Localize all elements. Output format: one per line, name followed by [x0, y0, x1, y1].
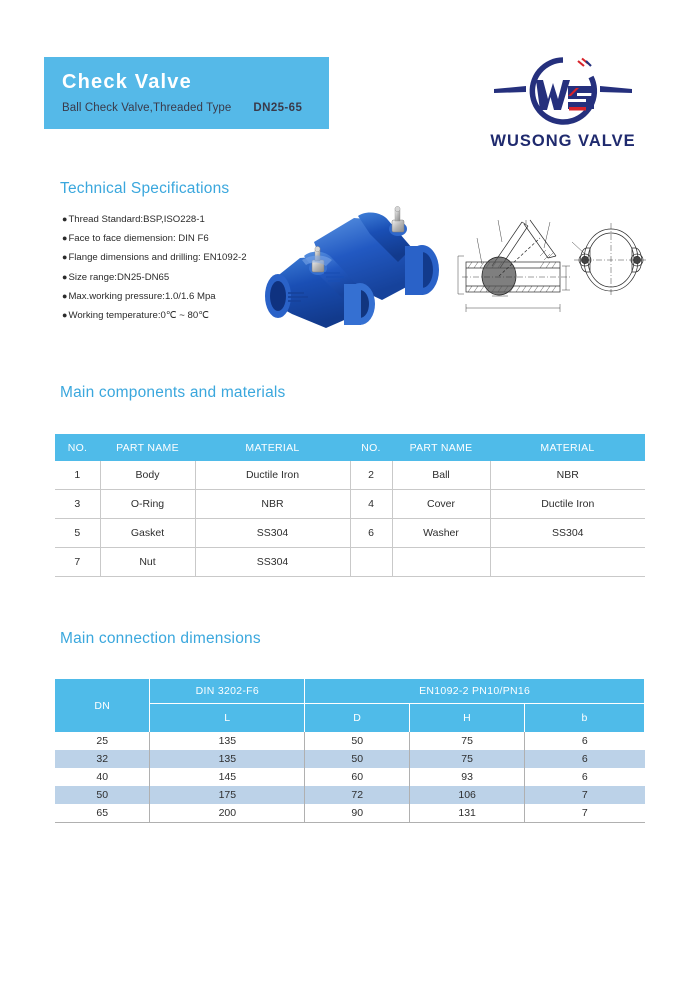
- table-row: 1BodyDuctile Iron2BallNBR: [55, 461, 645, 490]
- table-cell: 50: [305, 732, 410, 750]
- table-cell: Ductile Iron: [195, 461, 350, 490]
- bullet-icon: ●: [62, 272, 67, 282]
- table-cell: Cover: [392, 490, 490, 519]
- table-cell: Gasket: [100, 519, 195, 548]
- bullet-icon: ●: [62, 214, 67, 224]
- spec-item-label: Flange dimensions and drilling: EN1092-2: [68, 252, 246, 263]
- col-header-partname-left: PART NAME: [100, 434, 195, 461]
- table-cell: 131: [410, 804, 525, 823]
- section-heading-technical: Technical Specifications: [60, 180, 229, 198]
- table-cell: 7: [525, 804, 645, 823]
- col-header-partname-right: PART NAME: [392, 434, 490, 461]
- company-name: WUSONG VALVE: [468, 132, 658, 151]
- connection-dimensions-table: DN DIN 3202-F6 EN1092-2 PN10/PN16 L D H …: [55, 679, 645, 823]
- spec-item-label: Max.working pressure:1.0/1.6 Mpa: [68, 291, 215, 302]
- table-cell: 200: [150, 804, 305, 823]
- product-photo-check-valve: [262, 196, 457, 336]
- col-header-material-left: MATERIAL: [195, 434, 350, 461]
- table-cell: 75: [410, 750, 525, 768]
- section-heading-components: Main components and materials: [60, 384, 286, 402]
- col-header-d: D: [305, 704, 410, 733]
- table-cell: 93: [410, 768, 525, 786]
- col-header-group-din: DIN 3202-F6: [150, 679, 305, 704]
- table-cell: 6: [525, 732, 645, 750]
- product-size-range: DN25-65: [253, 102, 302, 114]
- table-cell: 40: [55, 768, 150, 786]
- table-cell: 3: [55, 490, 100, 519]
- valve-cross-section-drawing: [458, 220, 570, 312]
- table-cell: 135: [150, 732, 305, 750]
- product-subtitle-text: Ball Check Valve,Threaded Type: [62, 102, 231, 114]
- col-header-no-left: NO.: [55, 434, 100, 461]
- table-cell: 50: [55, 786, 150, 804]
- table-cell: 6: [525, 768, 645, 786]
- table-row: 4014560936: [55, 768, 645, 786]
- table-cell: SS304: [195, 548, 350, 577]
- table-cell: 50: [305, 750, 410, 768]
- table-cell: Body: [100, 461, 195, 490]
- product-subtitle: Ball Check Valve,Threaded TypeDN25-65: [62, 102, 302, 114]
- table-cell: 7: [525, 786, 645, 804]
- table-cell: 90: [305, 804, 410, 823]
- table-cell: 2: [350, 461, 392, 490]
- table-cell: 72: [305, 786, 410, 804]
- table-cell: Ball: [392, 461, 490, 490]
- col-header-dn: DN: [55, 679, 150, 732]
- wusong-logo-icon: [468, 52, 658, 130]
- table-cell: 1: [55, 461, 100, 490]
- table-cell: SS304: [490, 519, 645, 548]
- spec-item-label: Working temperature:0℃ ~ 80℃: [68, 310, 209, 321]
- table-cell: SS304: [195, 519, 350, 548]
- table-cell: 175: [150, 786, 305, 804]
- company-logo: WUSONG VALVE: [468, 52, 658, 162]
- section-heading-dimensions: Main connection dimensions: [60, 630, 261, 648]
- col-header-material-right: MATERIAL: [490, 434, 645, 461]
- spec-item-label: Face to face diemension: DIN F6: [68, 233, 208, 244]
- table-cell: 106: [410, 786, 525, 804]
- bullet-icon: ●: [62, 291, 67, 301]
- bullet-icon: ●: [62, 252, 67, 262]
- table-cell: O-Ring: [100, 490, 195, 519]
- table-cell: Ductile Iron: [490, 490, 645, 519]
- table-cell: 65: [55, 804, 150, 823]
- table-cell: 4: [350, 490, 392, 519]
- components-materials-table: NO. PART NAME MATERIAL NO. PART NAME MAT…: [55, 434, 645, 577]
- table-row: 7NutSS304: [55, 548, 645, 577]
- table-cell: 5: [55, 519, 100, 548]
- col-header-no-right: NO.: [350, 434, 392, 461]
- col-header-b: b: [525, 704, 645, 733]
- table-row: 3213550756: [55, 750, 645, 768]
- table-row: 5GasketSS3046WasherSS304: [55, 519, 645, 548]
- bullet-icon: ●: [62, 310, 67, 320]
- table-cell: 25: [55, 732, 150, 750]
- table-cell: 145: [150, 768, 305, 786]
- bullet-icon: ●: [62, 233, 67, 243]
- table-cell: 135: [150, 750, 305, 768]
- spec-item-label: Thread Standard:BSP,ISO228-1: [68, 214, 204, 225]
- table-cell: 32: [55, 750, 150, 768]
- table-cell: Nut: [100, 548, 195, 577]
- table-header-row-tier1: DN DIN 3202-F6 EN1092-2 PN10/PN16: [55, 679, 645, 704]
- table-cell: NBR: [195, 490, 350, 519]
- table-cell: 6: [350, 519, 392, 548]
- spec-item-label: Size range:DN25-DN65: [68, 272, 169, 283]
- table-cell: NBR: [490, 461, 645, 490]
- table-cell: [490, 548, 645, 577]
- table-cell: [350, 548, 392, 577]
- table-row: 50175721067: [55, 786, 645, 804]
- table-cell: 60: [305, 768, 410, 786]
- technical-drawings: [452, 196, 652, 331]
- col-header-h: H: [410, 704, 525, 733]
- product-header-banner: Check Valve Ball Check Valve,Threaded Ty…: [44, 57, 329, 129]
- table-cell: [392, 548, 490, 577]
- col-header-group-en: EN1092-2 PN10/PN16: [305, 679, 645, 704]
- table-cell: Washer: [392, 519, 490, 548]
- table-row: 65200901317: [55, 804, 645, 823]
- page-title: Check Valve: [62, 71, 192, 94]
- col-header-l: L: [150, 704, 305, 733]
- table-cell: 7: [55, 548, 100, 577]
- table-row: 3O-RingNBR4CoverDuctile Iron: [55, 490, 645, 519]
- valve-end-view-drawing: [572, 223, 648, 297]
- table-row: 2513550756: [55, 732, 645, 750]
- table-cell: 6: [525, 750, 645, 768]
- table-header-row: NO. PART NAME MATERIAL NO. PART NAME MAT…: [55, 434, 645, 461]
- table-cell: 75: [410, 732, 525, 750]
